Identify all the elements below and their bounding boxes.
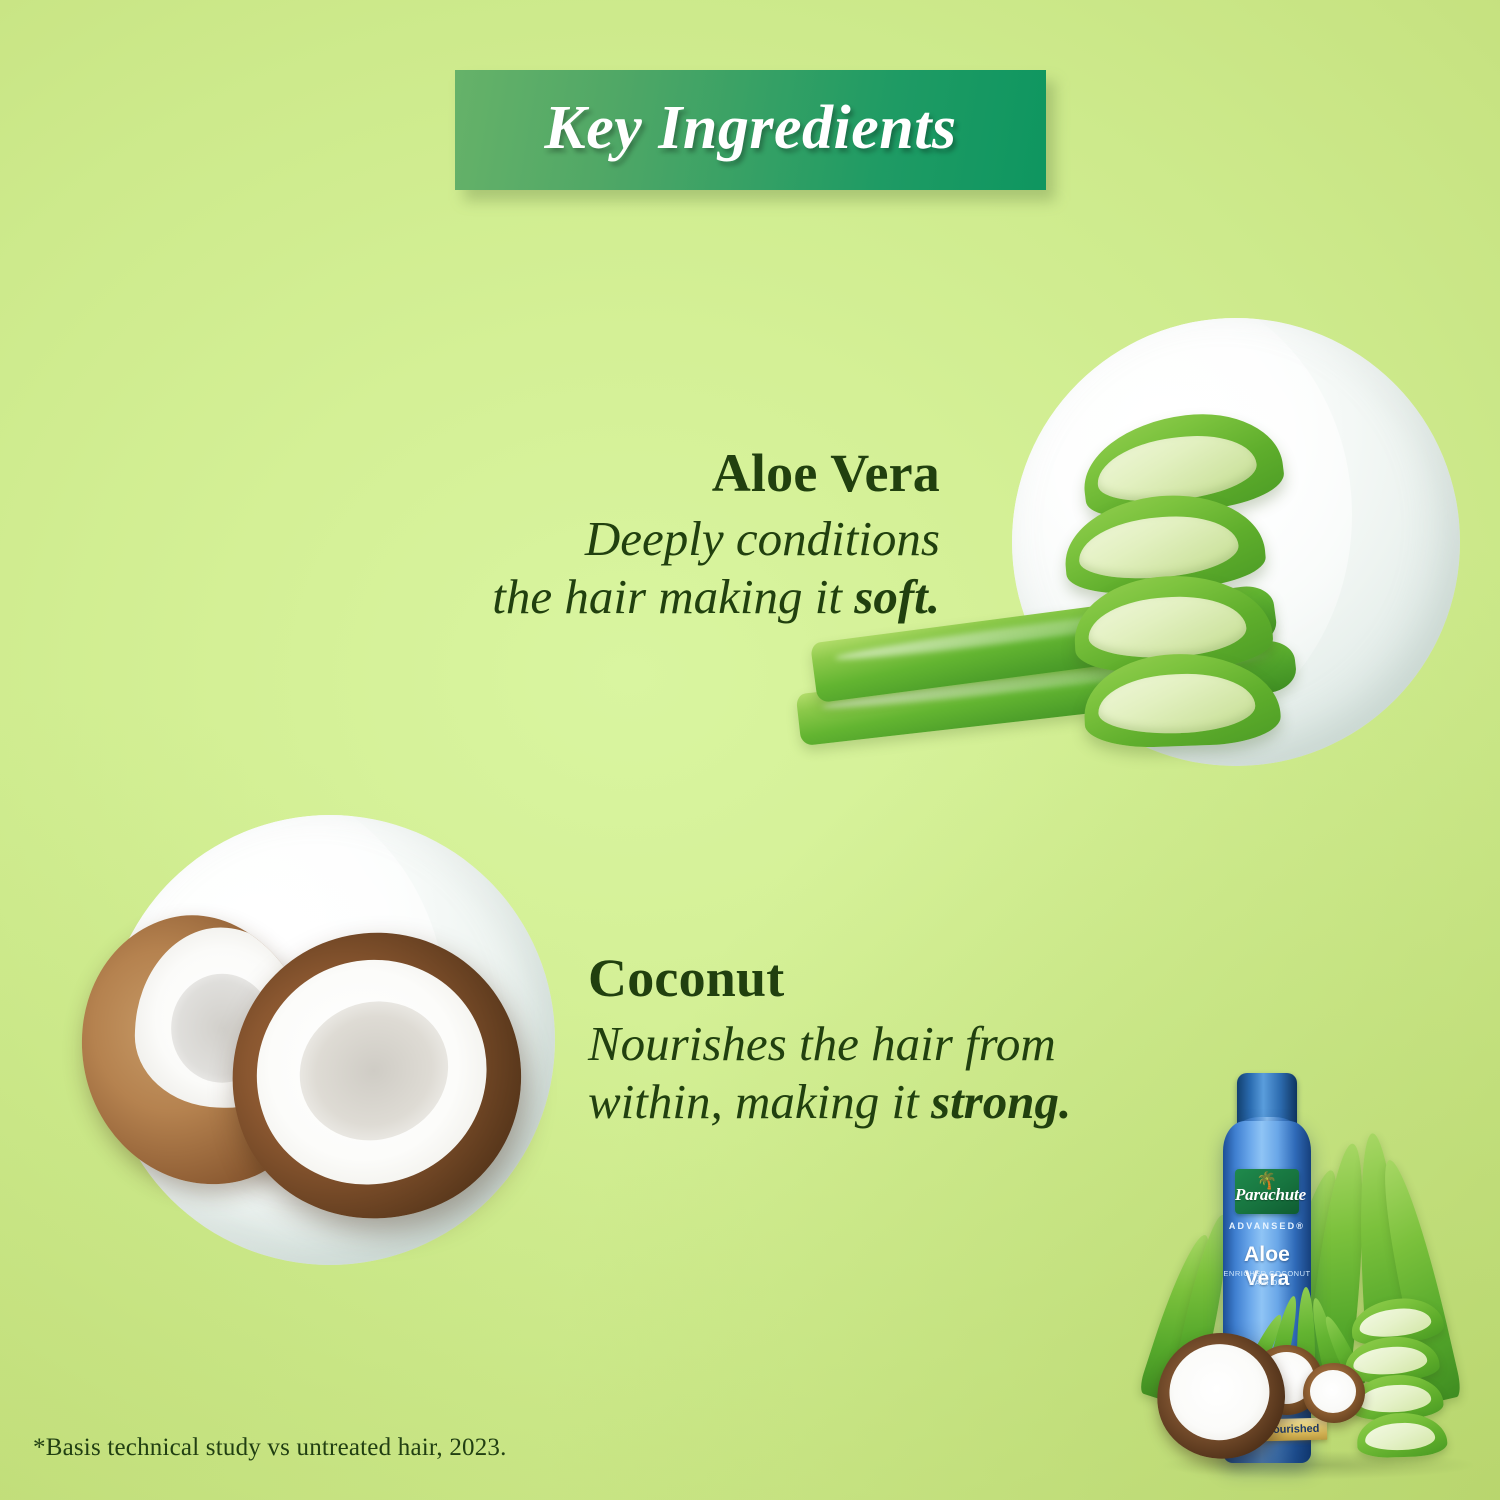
aloe-slice-flesh xyxy=(1359,1383,1432,1414)
footnote-disclaimer: *Basis technical study vs untreated hair… xyxy=(33,1434,507,1462)
aloe-vera-text-block: Aloe Vera Deeply conditions the hair mak… xyxy=(300,445,940,625)
aloe-slice-flesh xyxy=(1076,510,1241,584)
aloe-slice-flesh xyxy=(1358,1305,1432,1340)
sub-brand-label: ADVANSED® xyxy=(1223,1221,1311,1231)
coconut-half-smallest xyxy=(1303,1363,1365,1423)
parachute-brand-plate: 🌴 Parachute xyxy=(1235,1169,1299,1214)
aloe-vera-heading: Aloe Vera xyxy=(300,445,940,502)
brand-name: Parachute xyxy=(1235,1186,1299,1204)
coconut-heading: Coconut xyxy=(588,950,1268,1007)
aloe-vera-description-line-1: Deeply conditions xyxy=(300,510,940,568)
aloe-vera-illustration xyxy=(1012,318,1500,788)
page-title: Key Ingredients xyxy=(455,70,1046,190)
aloe-slice-flesh xyxy=(1087,593,1248,661)
aloe-vera-description: Deeply conditions the hair making it sof… xyxy=(300,510,940,626)
key-ingredients-banner: Key Ingredients xyxy=(455,70,1046,190)
coconut-illustration xyxy=(105,815,555,1265)
aloe-slice-flesh xyxy=(1365,1422,1436,1452)
coconut-description-emphasis: strong. xyxy=(931,1074,1071,1129)
aloe-vera-description-emphasis: soft. xyxy=(854,569,940,624)
product-shot: 🌴 Parachute ADVANSED® Aloe Vera ENRICHED… xyxy=(1155,1045,1500,1500)
aloe-vera-description-line-2: the hair making it soft. xyxy=(300,568,940,626)
aloe-vera-description-line-2-text: the hair making it xyxy=(492,569,854,624)
aloe-slice-flesh xyxy=(1097,672,1256,736)
aloe-slice-flesh xyxy=(1353,1344,1428,1376)
coconut-description-line-2-text: within, making it xyxy=(588,1074,931,1129)
